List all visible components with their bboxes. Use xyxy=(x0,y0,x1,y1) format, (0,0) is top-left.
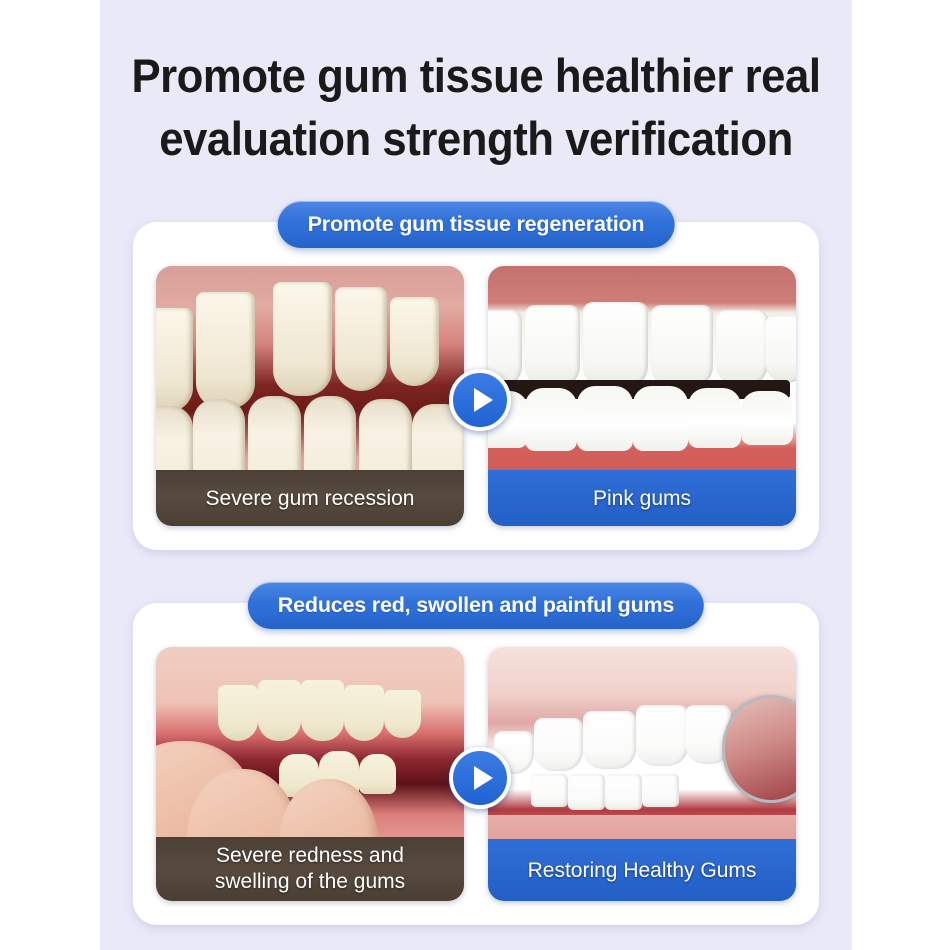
before-caption-text-2b: swelling of the gums xyxy=(207,869,413,895)
after-caption-2: Restoring Healthy Gums xyxy=(488,839,796,901)
play-icon[interactable] xyxy=(449,747,511,809)
before-caption-text-1: Severe gum recession xyxy=(198,485,423,512)
play-triangle xyxy=(474,766,493,790)
before-caption-2: Severe redness and swelling of the gums xyxy=(156,837,464,901)
after-caption-text-2: Restoring Healthy Gums xyxy=(520,857,765,884)
page-title-line-1: Promote gum tissue healthier real xyxy=(126,44,825,107)
before-caption-text-2a: Severe redness and xyxy=(208,843,412,869)
comparison-card-1: Promote gum tissue regeneration xyxy=(133,222,819,550)
page-title: Promote gum tissue healthier real evalua… xyxy=(126,44,825,170)
after-photo-1[interactable]: Pink gums xyxy=(488,266,796,526)
section-badge-1[interactable]: Promote gum tissue regeneration xyxy=(278,201,675,248)
before-photo-2[interactable]: Severe redness and swelling of the gums xyxy=(156,647,464,901)
play-icon[interactable] xyxy=(449,369,511,431)
page-title-line-2: evaluation strength verification xyxy=(126,107,825,170)
after-caption-1: Pink gums xyxy=(488,470,796,526)
comparison-card-2: Reduces red, swollen and painful gums xyxy=(133,603,819,925)
play-triangle xyxy=(474,388,493,412)
before-caption-1: Severe gum recession xyxy=(156,470,464,526)
after-caption-text-1: Pink gums xyxy=(585,485,699,512)
promo-banner: Promote gum tissue healthier real evalua… xyxy=(0,0,950,950)
after-photo-2[interactable]: Restoring Healthy Gums xyxy=(488,647,796,901)
dental-mirror-icon xyxy=(722,695,796,803)
before-photo-1[interactable]: Severe gum recession xyxy=(156,266,464,526)
section-badge-2[interactable]: Reduces red, swollen and painful gums xyxy=(248,582,704,629)
